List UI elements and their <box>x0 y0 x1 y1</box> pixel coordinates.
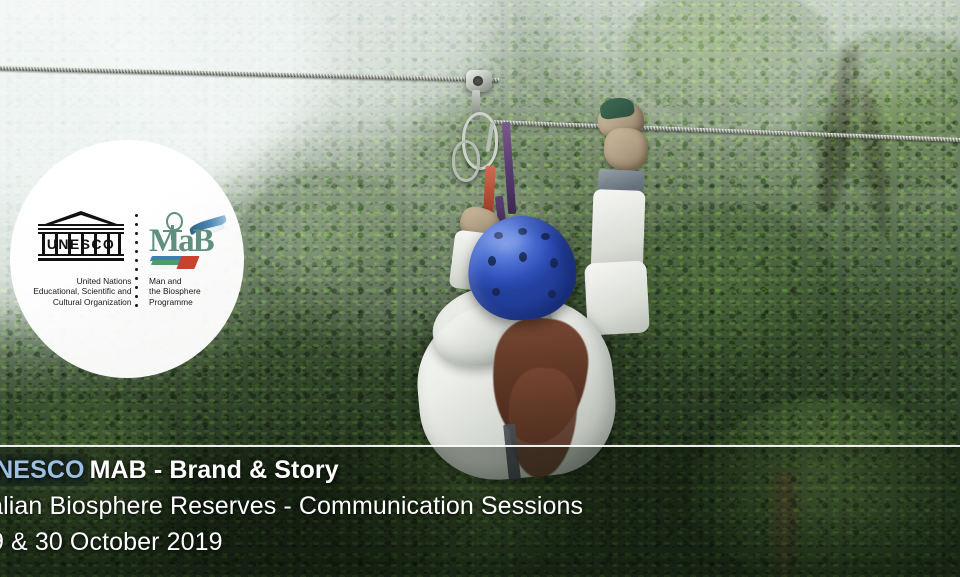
mab-caption: Man and the Biosphere Programme <box>149 276 201 307</box>
helmet-highlight <box>484 226 526 252</box>
unesco-caption: United Nations Educational, Scientific a… <box>28 276 135 307</box>
mab-wordmark: MaB <box>149 225 213 258</box>
mab-caption-line: the Biosphere <box>149 286 201 296</box>
temple-roofline <box>38 224 124 226</box>
helmet-vent <box>492 288 500 296</box>
temple-stylobate <box>38 254 124 256</box>
title-unesco-highlight: UNESCO <box>0 454 88 486</box>
mab-caption-line: Programme <box>149 297 201 307</box>
title-line-date: 29 & 30 October 2019 <box>0 528 223 557</box>
logo-dotted-separator <box>135 211 138 307</box>
helmet-vent <box>541 233 550 240</box>
unesco-caption-line: Educational, Scientific and <box>28 286 132 296</box>
presentation-slide: UNESCO United Nations Educational, Scien… <box>0 0 960 577</box>
gloved-hand-right-lower <box>603 127 650 172</box>
unesco-logo-block: UNESCO United Nations Educational, Scien… <box>29 211 133 307</box>
band-divider-rule <box>0 445 960 447</box>
temple-roofline <box>38 228 124 230</box>
unesco-caption-line: United Nations <box>28 276 132 286</box>
jacket-sleeve-right-lower <box>584 260 650 335</box>
helmet-vent <box>548 290 556 298</box>
unesco-wordmark: UNESCO <box>38 234 124 254</box>
title-line-primary: UNESCOMAB - Brand & Story <box>0 456 339 485</box>
pulley-axle <box>473 76 483 86</box>
unesco-caption-line: Cultural Organization <box>28 297 132 307</box>
mab-caption-line: Man and <box>149 276 201 286</box>
unesco-mab-logo-badge: UNESCO United Nations Educational, Scien… <box>10 140 244 378</box>
helmet-vent <box>519 252 527 262</box>
carabiner-secondary <box>452 140 480 182</box>
helmet-vent <box>550 258 558 268</box>
title-line-subtitle: Italian Biosphere Reserves - Communicati… <box>0 492 583 521</box>
title-line-primary-rest: MAB - Brand & Story <box>90 456 339 484</box>
temple-base <box>38 258 124 261</box>
helmet-vent <box>488 256 496 266</box>
unesco-temple-icon: UNESCO <box>38 211 124 267</box>
mab-logo-block: MaB Man and the Biosphere Programme <box>140 211 227 307</box>
mab-icon: MaB <box>149 211 225 267</box>
